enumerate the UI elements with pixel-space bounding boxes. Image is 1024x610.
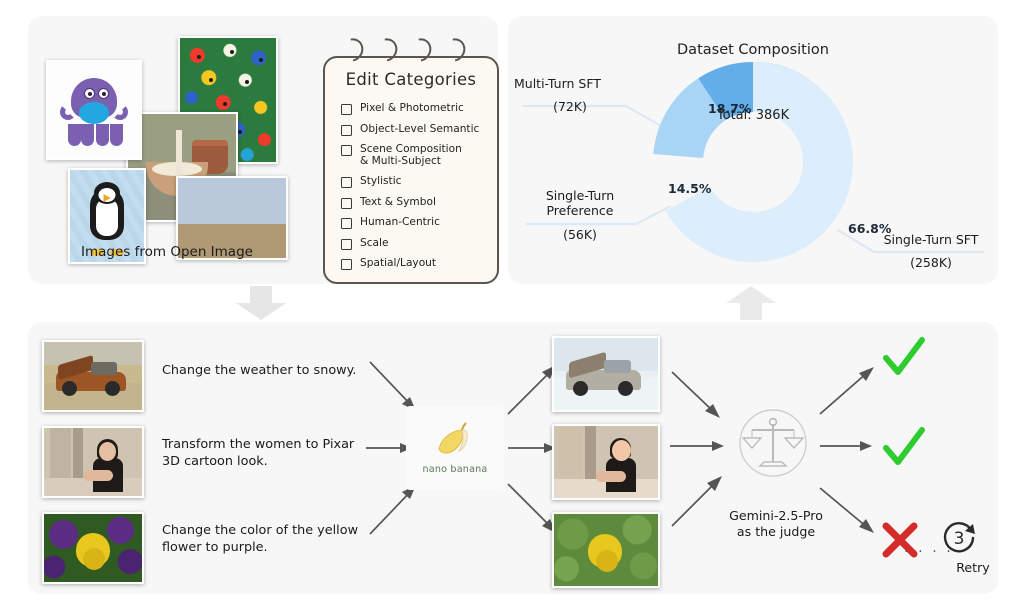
prompt-row-1: Change the weather to snowy. (162, 362, 372, 379)
callout-label: Single-Turn SFT (884, 232, 979, 247)
callout-multi-turn-sft: Multi-Turn SFT (72K) (514, 76, 654, 114)
category-label: Object-Level Semantic (360, 123, 479, 135)
arrow-judge-to-verdict1-icon (818, 362, 884, 418)
slice-value-single-turn-preference: 14.5% (668, 181, 711, 196)
source-image-woman (42, 426, 144, 498)
banana-icon (433, 421, 477, 461)
category-label: Human-Centric (360, 216, 440, 228)
retry-circular-arrow-icon: 3 (940, 518, 980, 558)
checkbox-human-centric[interactable] (341, 218, 352, 229)
figure-root: Images from Open Image Edit Categories P… (0, 0, 1024, 610)
callout-single-turn-sft: Single-Turn SFT (258K) (866, 232, 996, 270)
checkbox-object-level-semantic[interactable] (341, 125, 352, 136)
arrow-judge-to-verdict2-icon (818, 438, 880, 454)
model-nano-banana[interactable]: nano banana (406, 406, 504, 490)
svg-text:3: 3 (954, 529, 965, 549)
flow-arrow-down-icon (228, 286, 298, 322)
prompt-row-3: Change the color of the yellow flower to… (162, 522, 377, 556)
verdict-check-icon-row1 (880, 336, 928, 380)
images-source-caption: Images from Open Image (42, 244, 292, 260)
edit-categories-notebook: Edit Categories Pixel & Photometric Obje… (323, 56, 499, 284)
balance-scales-icon (736, 406, 810, 480)
thumbnail-octopus-toy (46, 60, 142, 160)
category-label: Stylistic (360, 175, 401, 187)
model-label: nano banana (422, 464, 487, 475)
callout-count: (56K) (520, 227, 640, 242)
source-image-car (42, 340, 144, 412)
slice-value-multi-turn-sft: 18.7% (708, 101, 751, 116)
callout-label: Multi-Turn SFT (514, 76, 601, 91)
callout-label: Single-Turn Preference (546, 188, 614, 218)
verdict-check-icon-row2 (880, 426, 928, 470)
checkbox-scale[interactable] (341, 239, 352, 250)
callout-count: (258K) (866, 255, 996, 270)
category-label: Scene Composition & Multi-Subject (360, 143, 462, 168)
notebook-spiral-binding (333, 38, 493, 64)
flow-arrow-up-icon (718, 286, 788, 322)
donut-hole (703, 112, 803, 212)
category-item[interactable]: Stylistic (341, 175, 489, 188)
arrow-output2-to-judge-icon (668, 438, 730, 454)
category-item[interactable]: Object-Level Semantic (341, 123, 489, 136)
panel-generation-pipeline: Change the weather to snowy. Transform t… (28, 322, 998, 594)
chart-title: Dataset Composition (508, 42, 998, 58)
checkbox-stylistic[interactable] (341, 177, 352, 188)
checkbox-pixel-photometric[interactable] (341, 104, 352, 115)
category-item[interactable]: Scale (341, 237, 489, 250)
callout-single-turn-preference: Single-Turn Preference (56K) (520, 188, 640, 242)
category-item[interactable]: Pixel & Photometric (341, 102, 489, 115)
callout-count: (72K) (514, 99, 626, 114)
checkbox-scene-composition[interactable] (341, 145, 352, 156)
category-item[interactable]: Human-Centric (341, 216, 489, 229)
output-image-car-snow (552, 336, 660, 412)
checkbox-spatial-layout[interactable] (341, 259, 352, 270)
arrow-judge-to-verdict3-icon (818, 482, 884, 540)
panel-source-images: Images from Open Image Edit Categories P… (28, 16, 498, 284)
category-label: Text & Symbol (360, 196, 436, 208)
retry-label: Retry (940, 560, 1006, 575)
arrow-output1-to-judge-icon (670, 368, 732, 426)
judge-model (736, 406, 810, 480)
notebook-title: Edit Categories (325, 70, 497, 89)
category-label: Scale (360, 237, 389, 249)
category-label: Pixel & Photometric (360, 102, 464, 114)
source-image-iris (42, 512, 144, 584)
category-item[interactable]: Text & Symbol (341, 196, 489, 209)
category-label: Spatial/Layout (360, 257, 436, 269)
output-image-iris-green (552, 512, 660, 588)
category-item[interactable]: Spatial/Layout (341, 257, 489, 270)
donut-chart (653, 62, 853, 262)
retry-indicator[interactable]: 3 Retry (940, 518, 1006, 575)
prompt-row-2: Transform the women to Pixar 3D cartoon … (162, 436, 377, 470)
checkbox-text-symbol[interactable] (341, 198, 352, 209)
panel-dataset-composition: Dataset Composition Total: 386K 18.7% 14… (508, 16, 998, 284)
category-item[interactable]: Scene Composition & Multi-Subject (341, 143, 489, 168)
output-image-woman-pixar (552, 424, 660, 500)
edit-categories-list: Pixel & Photometric Object-Level Semanti… (341, 102, 489, 278)
